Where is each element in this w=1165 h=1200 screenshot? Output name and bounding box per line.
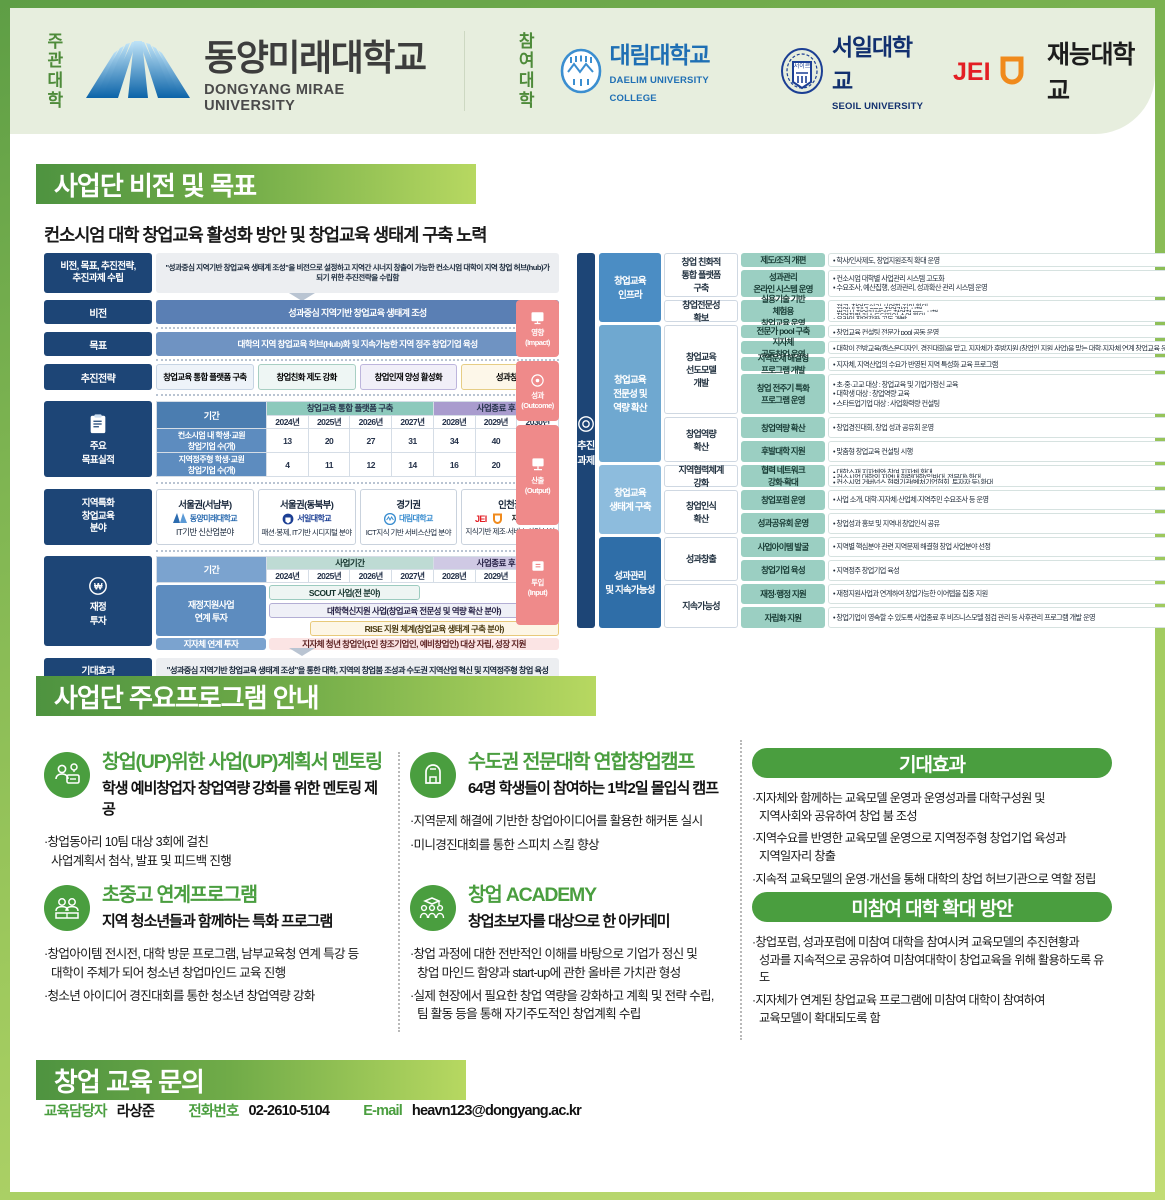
- task-group-3: 성과관리 및 지속가능성성과창출사업아이템 발굴• 지역별 핵심분야 관련 지역…: [599, 537, 1165, 629]
- section-title-vision: 사업단 비전 및 목표: [36, 164, 476, 204]
- contact-manager-value: 라상준: [117, 1100, 155, 1121]
- kpi-metric-0-2026: 27: [350, 429, 392, 453]
- task-block-3-1-title: 지속가능성: [664, 584, 738, 628]
- task-block-2-0-title: 지역협력체계 강화: [664, 465, 738, 487]
- mentoring-icon: [44, 752, 90, 798]
- side-tag-input: 투입 (Input): [516, 529, 559, 625]
- task-subtask-2-1-0: 창업포럼 운영: [741, 490, 825, 510]
- task-block-1-1-title: 창업역량 확산: [664, 417, 738, 462]
- task-block-0-0: 창업 친화적 통합 플랫폼 구축제도/조직 개편• 학사/인사제도, 창업지원조…: [664, 253, 1165, 297]
- side-tag-outcome: 성과 (Outcome): [516, 361, 559, 421]
- task-desc-line: • 학사/인사제도, 창업지원조직 확대 운영: [833, 256, 1165, 264]
- task-desc-line: • 수요조사, 예산집행, 성과관리, 성과확산 관리 시스템 운영: [833, 283, 1165, 292]
- finance-year-2027: 2027년: [392, 570, 434, 583]
- kpi-year-2026: 2026년: [350, 415, 392, 429]
- divider-dotted-3: [156, 394, 559, 396]
- kpi-metric-0-2028: 34: [433, 429, 475, 453]
- side-tag-input-text: 투입 (Input): [528, 577, 547, 597]
- tasks-axis-label: 추진과제: [577, 253, 595, 628]
- task-row-2-0-0: 협력 네트워크 강화·확대• 대학소재 지자체와 참여 지자체 확대• 컨소시엄…: [741, 465, 1165, 487]
- task-groups: 창업교육 인프라창업 친화적 통합 플랫폼 구축제도/조직 개편• 학사/인사제…: [599, 253, 1165, 628]
- kpi-year-2025: 2025년: [308, 415, 350, 429]
- task-desc-3-0-1: • 지역정주 창업기업 육성: [828, 560, 1165, 581]
- kpi-metric-1-name: 지역정주형 학생·교원 창업기업 수(개): [157, 453, 267, 477]
- task-subtask-2-0-0: 협력 네트워크 강화·확대: [741, 465, 825, 487]
- task-group-2: 창업교육 생태계 구축지역협력체계 강화협력 네트워크 강화·확대• 대학소재 …: [599, 465, 1165, 534]
- participant-seoil: 서이르 서일대학교 SEOIL UNIVERSITY: [780, 28, 931, 114]
- region-2-field: ICT지식 기반 서비스산업 분야: [366, 527, 451, 538]
- region-1-name: 서울권(동북부): [280, 497, 333, 511]
- divider-dotted-5: [156, 550, 559, 552]
- daelim-emblem-icon: [560, 48, 602, 94]
- kpi-year-2029: 2029년: [475, 415, 517, 429]
- program-1-title: 수도권 전문대학 연합창업캠프: [468, 752, 718, 773]
- task-desc-line: • 사업 소개, 대학·지자체·산업체·지역주민 수요조사 등 운영: [833, 495, 1165, 504]
- strategy-item-1: 창업친화 제도 강화: [258, 364, 356, 390]
- kpi-row-consortium: 컨소시엄 내 학생·교원 창업기업 수(개) 13 20 27 31 34 40…: [157, 429, 559, 453]
- kpi-metric-0-name: 컨소시엄 내 학생·교원 창업기업 수(개): [157, 429, 267, 453]
- kpi-row-local: 지역정주형 학생·교원 창업기업 수(개) 4 11 12 14 16 20 2…: [157, 453, 559, 477]
- program-separator-vertical-1: [398, 752, 400, 1032]
- page-background: 주관대학: [0, 0, 1165, 1200]
- section-title-programs: 사업단 주요프로그램 안내: [36, 676, 596, 716]
- side-panel-0-bullet-2: ·지속적 교육모델의 운영·개선을 통해 대학의 창업 허브기관으로 역할 정립: [752, 871, 1112, 889]
- daelim-name-kr: 대림대학교: [610, 42, 710, 68]
- dongyang-mini-icon: [173, 513, 187, 523]
- task-subtask-0-1-0: 실용기술 기반 체험용 창업교육 운영: [741, 300, 825, 322]
- task-block-0-1: 창업전문성 확보실용기술 기반 체험용 창업교육 운영• 전공, 창업동아리 사…: [664, 300, 1165, 322]
- side-tag-output-text: 산출 (Output): [525, 475, 550, 495]
- task-subtask-1-0-2: 지역문제 해결형 프로그램 개발: [741, 357, 825, 370]
- svg-text:₩: ₩: [94, 581, 103, 591]
- host-university-logo: 동양미래대학교 DONGYANG MIRAE UNIVERSITY: [84, 29, 438, 114]
- daelim-mini-icon: [384, 513, 396, 525]
- task-desc-line: • 지역정주 창업기업 육성: [833, 566, 1165, 575]
- task-row-1-1-0: 창업역량 확산• 창업경진대회, 창업 성과 공유회 운영: [741, 417, 1165, 438]
- section-title-vision-text: 사업단 비전 및 목표: [54, 166, 256, 203]
- task-group-0: 창업교육 인프라창업 친화적 통합 플랫폼 구축제도/조직 개편• 학사/인사제…: [599, 253, 1165, 322]
- task-row-1-0-3: 창업 전주기 특화 프로그램 운영• 초·중·고교 대상 : 창업교육 및 기업…: [741, 374, 1165, 414]
- program-3-bullet-1: ·실제 현장에서 필요한 창업 역량을 강화하고 계획 및 전략 수립, 팀 활…: [410, 987, 740, 1024]
- task-group-0-label: 창업교육 인프라: [599, 253, 661, 322]
- task-desc-line: • 창업기업이 영속할 수 있도록 사업종료 후 비즈니스모델 점검 관리 등 …: [833, 613, 1165, 622]
- output-icon: [530, 456, 546, 472]
- kpi-metric-1-2028: 16: [433, 453, 475, 477]
- kpi-label: 주요 목표실적: [44, 401, 152, 477]
- task-row-1-0-2: 지역문제 해결형 프로그램 개발• 지자체, 지역산업의 수요가 반영된 지역 …: [741, 357, 1165, 370]
- task-desc-line: • 맞춤형 창업교육 컨설팅 시행: [833, 447, 1165, 456]
- task-desc-line: • 대학생 대상 : 창업역량 교육: [833, 389, 1165, 398]
- tasks-axis-label-text: 추진과제: [577, 437, 595, 467]
- kpi-year-2024: 2024년: [267, 415, 309, 429]
- task-subtask-3-1-1: 자립화 지원: [741, 607, 825, 628]
- host-university-label: 주관대학: [40, 32, 70, 110]
- task-subtask-1-1-1: 후발대학 지원: [741, 441, 825, 462]
- program-3-subtitle: 창업초보자를 대상으로 한 아카데미: [468, 910, 670, 931]
- task-desc-0-1-0: • 전공, 창업동아리 사업화 지원 확대• 지역내 청년 CEO 창업강좌 시…: [828, 300, 1165, 322]
- task-group-2-label: 창업교육 생태계 구축: [599, 465, 661, 534]
- task-desc-1-1-0: • 창업경진대회, 창업 성과 공유회 운영: [828, 417, 1165, 438]
- task-block-0-1-title: 창업전문성 확보: [664, 300, 738, 322]
- side-tag-outcome-text: 성과 (Outcome): [521, 390, 553, 410]
- region-2-univ: 대림대학교: [399, 513, 433, 524]
- task-row-2-1-1: 성과공유회 운영• 창업성과 홍보 및 지역내 창업인식 공유: [741, 513, 1165, 533]
- seoil-name-kr: 서일대학교: [832, 34, 912, 94]
- vision-subtitle: 컨소시엄 대학 창업교육 활성화 방안 및 창업교육 생태계 구축 노력: [44, 222, 486, 247]
- side-panel-0-bullet-1: ·지역수요를 반영한 교육모델 운영으로 지역정주형 창업기업 육성과 지역일자…: [752, 830, 1112, 865]
- program-2-bullet-0: ·창업아이템 전시전, 대학 방문 프로그램, 남부교육청 연계 특강 등 대학…: [44, 945, 394, 982]
- svg-text:JEI: JEI: [475, 514, 487, 524]
- side-panel-1-title: 미참여 대학 확대 방안: [752, 892, 1112, 922]
- task-desc-3-1-0: • 재정지원사업과 연계하여 창업가능한 이어텝을 집중 지원: [828, 584, 1165, 605]
- impact-icon: [530, 310, 545, 325]
- vision-top-label: 비전, 목표, 추진전략, 추진과제 수립: [44, 253, 152, 293]
- task-block-3-0: 성과창출사업아이템 발굴• 지역별 핵심분야 관련 지역문제 해결형 창업 사업…: [664, 537, 1165, 581]
- program-card-3: 창업 ACADEMY 창업초보자를 대상으로 한 아카데미 ·창업 과정에 대한…: [410, 885, 740, 1028]
- jeiu-name-kr: 재능대학교: [1047, 35, 1155, 107]
- daelim-name-en: DAELIM UNIVERSITY COLLEGE: [610, 75, 709, 104]
- kpi-metric-1-2025: 11: [308, 453, 350, 477]
- clipboard-icon: [87, 413, 109, 435]
- region-0-field: IT기반 신산업분야: [176, 526, 234, 538]
- finance-year-table: 기간 사업기간 사업종료 후 2024년 2025년 2026년 2027년 2…: [156, 556, 559, 583]
- program-0-bullet-0: ·창업동아리 10팀 대상 3회에 걸친 사업계획서 첨삭, 발표 및 피드백 …: [44, 833, 384, 870]
- task-group-1-label: 창업교육 전문성 및 역량 확산: [599, 325, 661, 462]
- task-block-1-0: 창업교육 선도모델 개발전문가 pool 구축• 창업교육 컨설팅 전문가 po…: [664, 325, 1165, 415]
- contact-phone-label: 전화번호: [188, 1100, 238, 1121]
- kpi-metric-1-2029: 20: [475, 453, 517, 477]
- task-row-2-1-0: 창업포럼 운영• 사업 소개, 대학·지자체·산업체·지역주민 수요조사 등 운…: [741, 490, 1165, 510]
- side-panel-0-title: 기대효과: [752, 748, 1112, 778]
- task-row-1-1-1: 후발대학 지원• 맞춤형 창업교육 컨설팅 시행: [741, 441, 1165, 462]
- task-desc-line: • 스타트업기업 대상 : 사업확력량 컨설팅: [833, 399, 1165, 408]
- seoil-mini-icon: [282, 513, 294, 525]
- task-block-2-1: 창업인식 확산창업포럼 운영• 사업 소개, 대학·지자체·산업체·지역주민 수…: [664, 490, 1165, 534]
- participant-jeiu: JEI 재능대학교: [953, 35, 1155, 107]
- task-desc-2-1-1: • 창업성과 홍보 및 지역내 창업인식 공유: [828, 513, 1165, 533]
- region-card-2: 경기권 대림대학교 ICT지식 기반 서비스산업 분야: [360, 489, 458, 545]
- contact-email-value: heavn123@dongyang.ac.kr: [412, 1103, 581, 1119]
- vision-top-label-text: 비전, 목표, 추진전략, 추진과제 수립: [60, 261, 135, 286]
- vision-row-text: 성과중심 지역기반 창업교육 생태계 조성: [156, 300, 559, 324]
- task-desc-line: • 초·중·고교 대상 : 창업교육 및 기업가정신 교육: [833, 380, 1165, 389]
- goal-row-text: 대학의 지역 창업교육 허브(Hub)화 및 지속가능한 지역 정주 창업기업 …: [156, 332, 559, 356]
- task-block-0-0-title: 창업 친화적 통합 플랫폼 구축: [664, 253, 738, 297]
- academy-graduate-icon: [410, 885, 456, 931]
- strategy-item-2: 창업인재 양성 활성화: [360, 364, 458, 390]
- program-card-0: 창업(UP)위한 사업(UP)계획서 멘토링 학생 예비창업자 창업역량 강화를…: [44, 752, 384, 875]
- goal-row-label: 목표: [44, 332, 152, 356]
- task-desc-line: • 지역별 핵심분야 관련 지역문제 해결형 창업 사업분야 선정: [833, 542, 1165, 551]
- task-group-3-label: 성과관리 및 지속가능성: [599, 537, 661, 629]
- jeiu-mini-icon: JEI: [475, 513, 509, 524]
- program-2-title: 초중고 연계프로그램: [102, 885, 332, 906]
- task-block-2-0: 지역협력체계 강화협력 네트워크 강화·확대• 대학소재 지자체와 참여 지자체…: [664, 465, 1165, 487]
- task-row-3-1-1: 자립화 지원• 창업기업이 영속할 수 있도록 사업종료 후 비즈니스모델 점검…: [741, 607, 1165, 628]
- task-desc-3-0-0: • 지역별 핵심분야 관련 지역문제 해결형 창업 사업분야 선정: [828, 537, 1165, 558]
- side-panel-0: 기대효과 ·지자체와 함께하는 교육모델 운영과 운영성과를 대학구성원 및 지…: [752, 748, 1112, 893]
- jeiu-emblem-icon: JEI: [953, 54, 1039, 88]
- input-icon: [530, 558, 546, 574]
- finance-group1-header: 사업기간: [267, 557, 434, 570]
- side-panel-1-bullet-1: ·지자체가 연계된 창업교육 프로그램에 미참여 대학이 참여하여 교육모델이 …: [752, 992, 1112, 1027]
- host-university-name-en: DONGYANG MIRAE UNIVERSITY: [204, 82, 438, 114]
- svg-text:JEI: JEI: [953, 58, 991, 86]
- tasks-column: 추진과제 창업교육 인프라창업 친화적 통합 플랫폼 구축제도/조직 개편• 학…: [577, 253, 1119, 628]
- regions-label-text: 지역특화 창업교육 분야: [82, 498, 115, 536]
- task-desc-line: • 창업성과 홍보 및 지역내 창업인식 공유: [833, 519, 1165, 528]
- poster-header: 주관대학: [10, 8, 1155, 134]
- task-subtask-3-0-1: 창업기업 육성: [741, 560, 825, 581]
- region-1-field: 패션·봉제, IT기반 시디지털 분야: [262, 527, 352, 538]
- finance-year-2024: 2024년: [267, 570, 309, 583]
- finance-label: ₩ 재정 투자: [44, 556, 152, 646]
- kpi-metric-1-2024: 4: [267, 453, 309, 477]
- seoil-emblem-icon: 서이르: [780, 48, 824, 94]
- finance-year-2029: 2029년: [475, 570, 517, 583]
- task-block-1-1: 창업역량 확산창업역량 확산• 창업경진대회, 창업 성과 공유회 운영후발대학…: [664, 417, 1165, 462]
- task-subtask-3-1-0: 재정·행정 지원: [741, 584, 825, 605]
- program-3-title: 창업 ACADEMY: [468, 885, 670, 906]
- kpi-year-2028: 2028년: [433, 415, 475, 429]
- participant-daelim: 대림대학교 DAELIM UNIVERSITY COLLEGE: [560, 36, 758, 106]
- kpi-table: 기간 창업교육 통합 플랫폼 구축 사업종료 후 2024년 2025년 202…: [156, 401, 559, 477]
- task-desc-2-0-0: • 대학소재 지자체와 참여 지자체 확대• 컨소시엄 대학외 지역내 협력대학…: [828, 465, 1165, 487]
- task-desc-1-0-2: • 지자체, 지역산업의 수요가 반영된 지역 특성화 교육 프로그램: [828, 357, 1165, 370]
- program-1-bullet-0: ·지역문제 해결에 기반한 창업아이디어를 활용한 해커톤 실시: [410, 812, 730, 830]
- vision-board: 비전, 목표, 추진전략, 추진과제 수립 "성과중심 지역기반 창업교육 생태…: [44, 253, 1119, 628]
- task-row-3-1-0: 재정·행정 지원• 재정지원사업과 연계하여 창업가능한 이어텝을 집중 지원: [741, 584, 1165, 605]
- kpi-label-text: 주요 목표실적: [82, 438, 115, 466]
- svg-text:서이르: 서이르: [794, 62, 811, 70]
- outcome-icon: [530, 373, 545, 388]
- contact-manager-label: 교육담당자: [44, 1100, 107, 1121]
- task-desc-0-0-0: • 학사/인사제도, 창업지원조직 확대 운영: [828, 253, 1165, 267]
- contact-phone-value: 02-2610-5104: [249, 1103, 330, 1119]
- regions-label: 지역특화 창업교육 분야: [44, 489, 152, 545]
- finance-bar-0: SCOUT 사업(전 분야): [269, 585, 420, 600]
- kpi-metric-0-2029: 40: [475, 429, 517, 453]
- task-block-3-1: 지속가능성재정·행정 지원• 재정지원사업과 연계하여 창업가능한 이어텝을 집…: [664, 584, 1165, 628]
- task-subtask-1-0-3: 창업 전주기 특화 프로그램 운영: [741, 374, 825, 414]
- contact-email-label: E-mail: [363, 1103, 402, 1119]
- finance-period-header: 기간: [157, 557, 267, 583]
- side-tag-output: 산출 (Output): [516, 425, 559, 525]
- task-desc-0-0-1: • 컨소시엄 대학별 사업관리 시스템 고도화• 수요조사, 예산집행, 성과관…: [828, 270, 1165, 297]
- program-card-2: 초중고 연계프로그램 지역 청소년들과 함께하는 특화 프로그램 ·창업아이템 …: [44, 885, 394, 1010]
- strategy-item-0: 창업교육 통합 플랫폼 구축: [156, 364, 254, 390]
- task-subtask-3-0-0: 사업아이템 발굴: [741, 537, 825, 558]
- task-desc-line: • 대학이 전방교육(캠스온디자인, 경진대회)을 맡고, 지자체가 후방지원 …: [833, 344, 1165, 351]
- won-circle-icon: ₩: [88, 576, 108, 596]
- kpi-metric-0-2025: 20: [308, 429, 350, 453]
- program-card-1: 수도권 전문대학 연합창업캠프 64명 학생들이 참여하는 1박2일 몰입식 캠…: [410, 752, 730, 859]
- section-title-contact-text: 창업 교육 문의: [54, 1062, 204, 1099]
- divider-dotted-1: [156, 327, 559, 329]
- program-2-bullet-1: ·청소년 아이디어 경진대회를 통한 청소년 창업역량 강화: [44, 987, 394, 1005]
- kpi-year-2027: 2027년: [392, 415, 434, 429]
- camp-backpack-icon: [410, 752, 456, 798]
- task-block-2-1-title: 창업인식 확산: [664, 490, 738, 534]
- side-panel-1-bullet-0: ·창업포럼, 성과포럼에 미참여 대학을 참여시켜 교육모델의 추진현황과 성과…: [752, 934, 1112, 987]
- task-block-1-0-title: 창업교육 선도모델 개발: [664, 325, 738, 415]
- program-0-subtitle: 학생 예비창업자 창업역량 강화를 위한 멘토링 제공: [102, 777, 384, 819]
- task-subtask-2-1-1: 성과공유회 운영: [741, 513, 825, 533]
- finance-label-text: 재정 투자: [90, 599, 106, 627]
- region-card-1: 서울권(동북부) 서일대학교 패션·봉제, IT기반 시디지털 분야: [258, 489, 356, 545]
- task-desc-1-0-1: • 대학이 전방교육(캠스온디자인, 경진대회)을 맡고, 지자체가 후방지원 …: [828, 341, 1165, 354]
- side-panel-0-bullet-0: ·지자체와 함께하는 교육모델 운영과 운영성과를 대학구성원 및 지역사회와 …: [752, 790, 1112, 825]
- task-block-3-0-title: 성과창출: [664, 537, 738, 581]
- side-panel-1: 미참여 대학 확대 방안 ·창업포럼, 성과포럼에 미참여 대학을 참여시켜 교…: [752, 892, 1112, 1032]
- kpi-metric-1-2027: 14: [392, 453, 434, 477]
- task-group-1: 창업교육 전문성 및 역량 확산창업교육 선도모델 개발전문가 pool 구축•…: [599, 325, 1165, 462]
- program-1-bullet-1: ·미니경진대회를 통한 스피치 스킬 향상: [410, 836, 730, 854]
- side-tag-impact: 영향 (Impact): [516, 300, 559, 357]
- program-0-title: 창업(UP)위한 사업(UP)계획서 멘토링: [102, 752, 384, 773]
- program-separator-vertical-2: [740, 740, 742, 1040]
- divider-dotted-2: [156, 359, 559, 361]
- divider-dotted-4: [156, 482, 559, 484]
- task-desc-line: • 창업교육 컨설팅 전문가 pool 공동 운영: [833, 328, 1165, 335]
- seoil-name-en: SEOIL UNIVERSITY: [832, 101, 923, 112]
- task-subtask-1-1-0: 창업역량 확산: [741, 417, 825, 438]
- program-2-subtitle: 지역 청소년들과 함께하는 특화 프로그램: [102, 910, 332, 931]
- finance-year-2025: 2025년: [308, 570, 350, 583]
- dongyang-fan-icon: [84, 40, 192, 102]
- vision-left-column: 비전, 목표, 추진전략, 추진과제 수립 "성과중심 지역기반 창업교육 생태…: [44, 253, 559, 628]
- program-3-bullet-0: ·창업 과정에 대한 전반적인 이해를 바탕으로 기업가 정신 및 창업 마인드…: [410, 945, 740, 982]
- section-title-contact: 창업 교육 문의: [36, 1060, 466, 1100]
- host-university-name-kr: 동양미래대학교: [204, 29, 438, 81]
- vision-top-text: "성과중심 지역기반 창업교육 생태계 조성"을 비전으로 설정하고 지역간 시…: [156, 253, 559, 293]
- students-book-icon: [44, 885, 90, 931]
- kpi-group1-header: 창업교육 통합 플랫폼 구축: [267, 402, 434, 416]
- task-desc-line: • 재정지원사업과 연계하여 창업가능한 이어텝을 집중 지원: [833, 589, 1165, 598]
- task-desc-3-1-1: • 창업기업이 영속할 수 있도록 사업종료 후 비즈니스모델 점검 관리 등 …: [828, 607, 1165, 628]
- kpi-metric-0-2024: 13: [267, 429, 309, 453]
- vision-row-label: 비전: [44, 300, 152, 324]
- finance-local-label: 지자체 연계 투자: [156, 638, 266, 650]
- task-desc-line: • 컨소시엄 거버넌스 협력기관(벤처기업협회, 투자자 등) 확대: [833, 478, 1165, 483]
- task-desc-1-0-3: • 초·중·고교 대상 : 창업교육 및 기업가정신 교육• 대학생 대상 : …: [828, 374, 1165, 414]
- finance-row-label: 재정지원사업 연계 투자: [156, 585, 266, 636]
- kpi-metric-1-2026: 12: [350, 453, 392, 477]
- task-desc-1-1-1: • 맞춤형 창업교육 컨설팅 시행: [828, 441, 1165, 462]
- task-row-3-0-1: 창업기업 육성• 지역정주 창업기업 육성: [741, 560, 1165, 581]
- kpi-period-header: 기간: [157, 402, 267, 429]
- kpi-metric-0-2027: 31: [392, 429, 434, 453]
- task-row-0-1-0: 실용기술 기반 체험용 창업교육 운영• 전공, 창업동아리 사업화 지원 확대…: [741, 300, 1165, 322]
- task-row-3-0-0: 사업아이템 발굴• 지역별 핵심분야 관련 지역문제 해결형 창업 사업분야 선…: [741, 537, 1165, 558]
- task-desc-line: • 온라인 창업강좌 공동 개발: [833, 315, 1165, 318]
- region-2-name: 경기권: [396, 497, 420, 511]
- header-divider: [464, 31, 465, 111]
- strategy-row-label: 추진전략: [44, 364, 152, 390]
- contact-row: 교육담당자 라상준 전화번호 02-2610-5104 E-mail heavn…: [44, 1100, 581, 1121]
- section-title-programs-text: 사업단 주요프로그램 안내: [54, 678, 319, 715]
- region-card-0: 서울권(서남부) 동양미래대학교 IT기반 신산업분야: [156, 489, 254, 545]
- task-desc-line: • 컨소시엄 대학별 사업관리 시스템 고도화: [833, 274, 1165, 283]
- program-1-subtitle: 64명 학생들이 참여하는 1박2일 몰입식 캠프: [468, 777, 718, 798]
- task-desc-line: • 창업경진대회, 창업 성과 공유회 운영: [833, 423, 1165, 432]
- task-row-0-0-0: 제도/조직 개편• 학사/인사제도, 창업지원조직 확대 운영: [741, 253, 1165, 267]
- task-desc-line: • 지자체, 지역산업의 수요가 반영된 지역 특성화 교육 프로그램: [833, 360, 1165, 367]
- participant-universities: 대림대학교 DAELIM UNIVERSITY COLLEGE 서이르 서일대학…: [560, 28, 1156, 114]
- finance-year-2026: 2026년: [350, 570, 392, 583]
- region-0-univ: 동양미래대학교: [190, 513, 237, 524]
- target-icon: [577, 415, 595, 433]
- participant-universities-label: 참여대학: [511, 32, 541, 110]
- task-desc-2-1-0: • 사업 소개, 대학·지자체·산업체·지역주민 수요조사 등 운영: [828, 490, 1165, 510]
- finance-year-2028: 2028년: [433, 570, 475, 583]
- region-0-name: 서울권(서남부): [178, 497, 231, 511]
- region-1-univ: 서일대학교: [297, 513, 331, 524]
- side-tag-impact-text: 영향 (Impact): [525, 327, 550, 347]
- task-desc-1-0-0: • 창업교육 컨설팅 전문가 pool 공동 운영: [828, 325, 1165, 338]
- task-subtask-0-0-0: 제도/조직 개편: [741, 253, 825, 267]
